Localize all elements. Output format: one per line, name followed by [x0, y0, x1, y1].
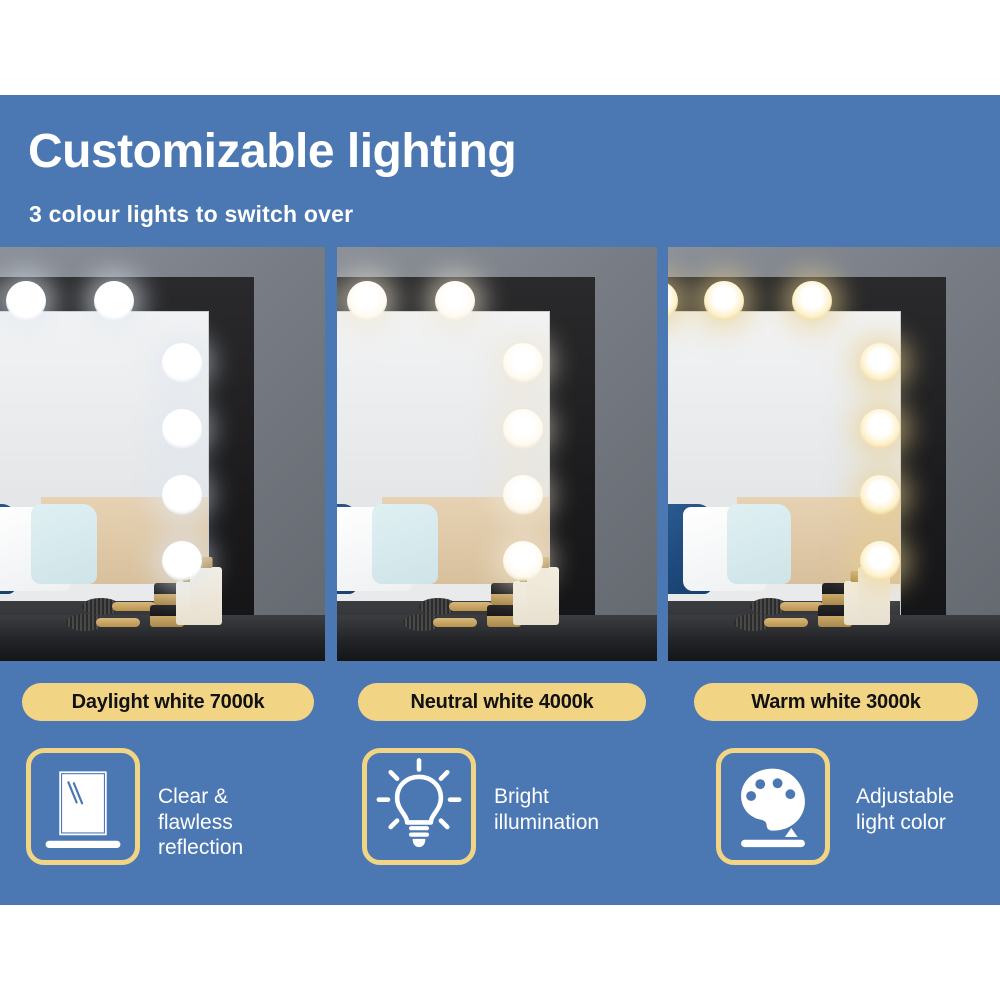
hairbrush-icon: [419, 598, 493, 615]
light-bulb: [860, 409, 900, 449]
hairbrush-icon: [82, 598, 156, 615]
lightbulb-icon: [362, 748, 476, 865]
hairbrush-icon: [403, 614, 477, 631]
feature-label: Adjustable light color: [856, 784, 954, 835]
feature-label: Clear & flawless reflection: [158, 784, 243, 861]
dresser-props: [395, 551, 585, 631]
light-bulb: [860, 343, 900, 383]
mirror-scene: [668, 247, 1000, 661]
light-bulb: [162, 343, 202, 383]
status-badge-neutral: Neutral white 4000k: [358, 683, 646, 721]
light-bulb: [503, 475, 543, 515]
product-photo-warm: [668, 247, 1000, 661]
mirror-icon: [26, 748, 140, 865]
light-bulb: [6, 281, 46, 321]
light-bulb: [162, 409, 202, 449]
product-photo-row: [0, 247, 1000, 661]
hairbrush-icon: [734, 614, 808, 631]
product-photo-neutral: [337, 247, 657, 661]
light-bulb: [94, 281, 134, 321]
hairbrush-icon: [66, 614, 140, 631]
page-subtitle: 3 colour lights to switch over: [29, 203, 353, 226]
status-badge-daylight: Daylight white 7000k: [22, 683, 314, 721]
light-bulb: [860, 475, 900, 515]
light-bulb: [792, 281, 832, 321]
status-badge-warm: Warm white 3000k: [694, 683, 978, 721]
light-bulb: [503, 343, 543, 383]
product-feature-banner: Customizable lighting 3 colour lights to…: [0, 0, 1000, 1000]
page-title: Customizable lighting: [28, 128, 516, 176]
light-bulb: [162, 541, 202, 581]
light-bulb: [435, 281, 475, 321]
dresser-props: [58, 551, 248, 631]
light-bulb: [860, 541, 900, 581]
feature-label: Bright illumination: [494, 784, 599, 835]
mirror-scene: [0, 247, 325, 661]
product-photo-daylight: [0, 247, 325, 661]
mirror-scene: [337, 247, 657, 661]
light-bulb: [503, 541, 543, 581]
hairbrush-icon: [750, 598, 824, 615]
light-bulb: [503, 409, 543, 449]
color-palette-icon: [716, 748, 830, 865]
light-bulb: [347, 281, 387, 321]
light-bulb: [704, 281, 744, 321]
light-bulb: [162, 475, 202, 515]
